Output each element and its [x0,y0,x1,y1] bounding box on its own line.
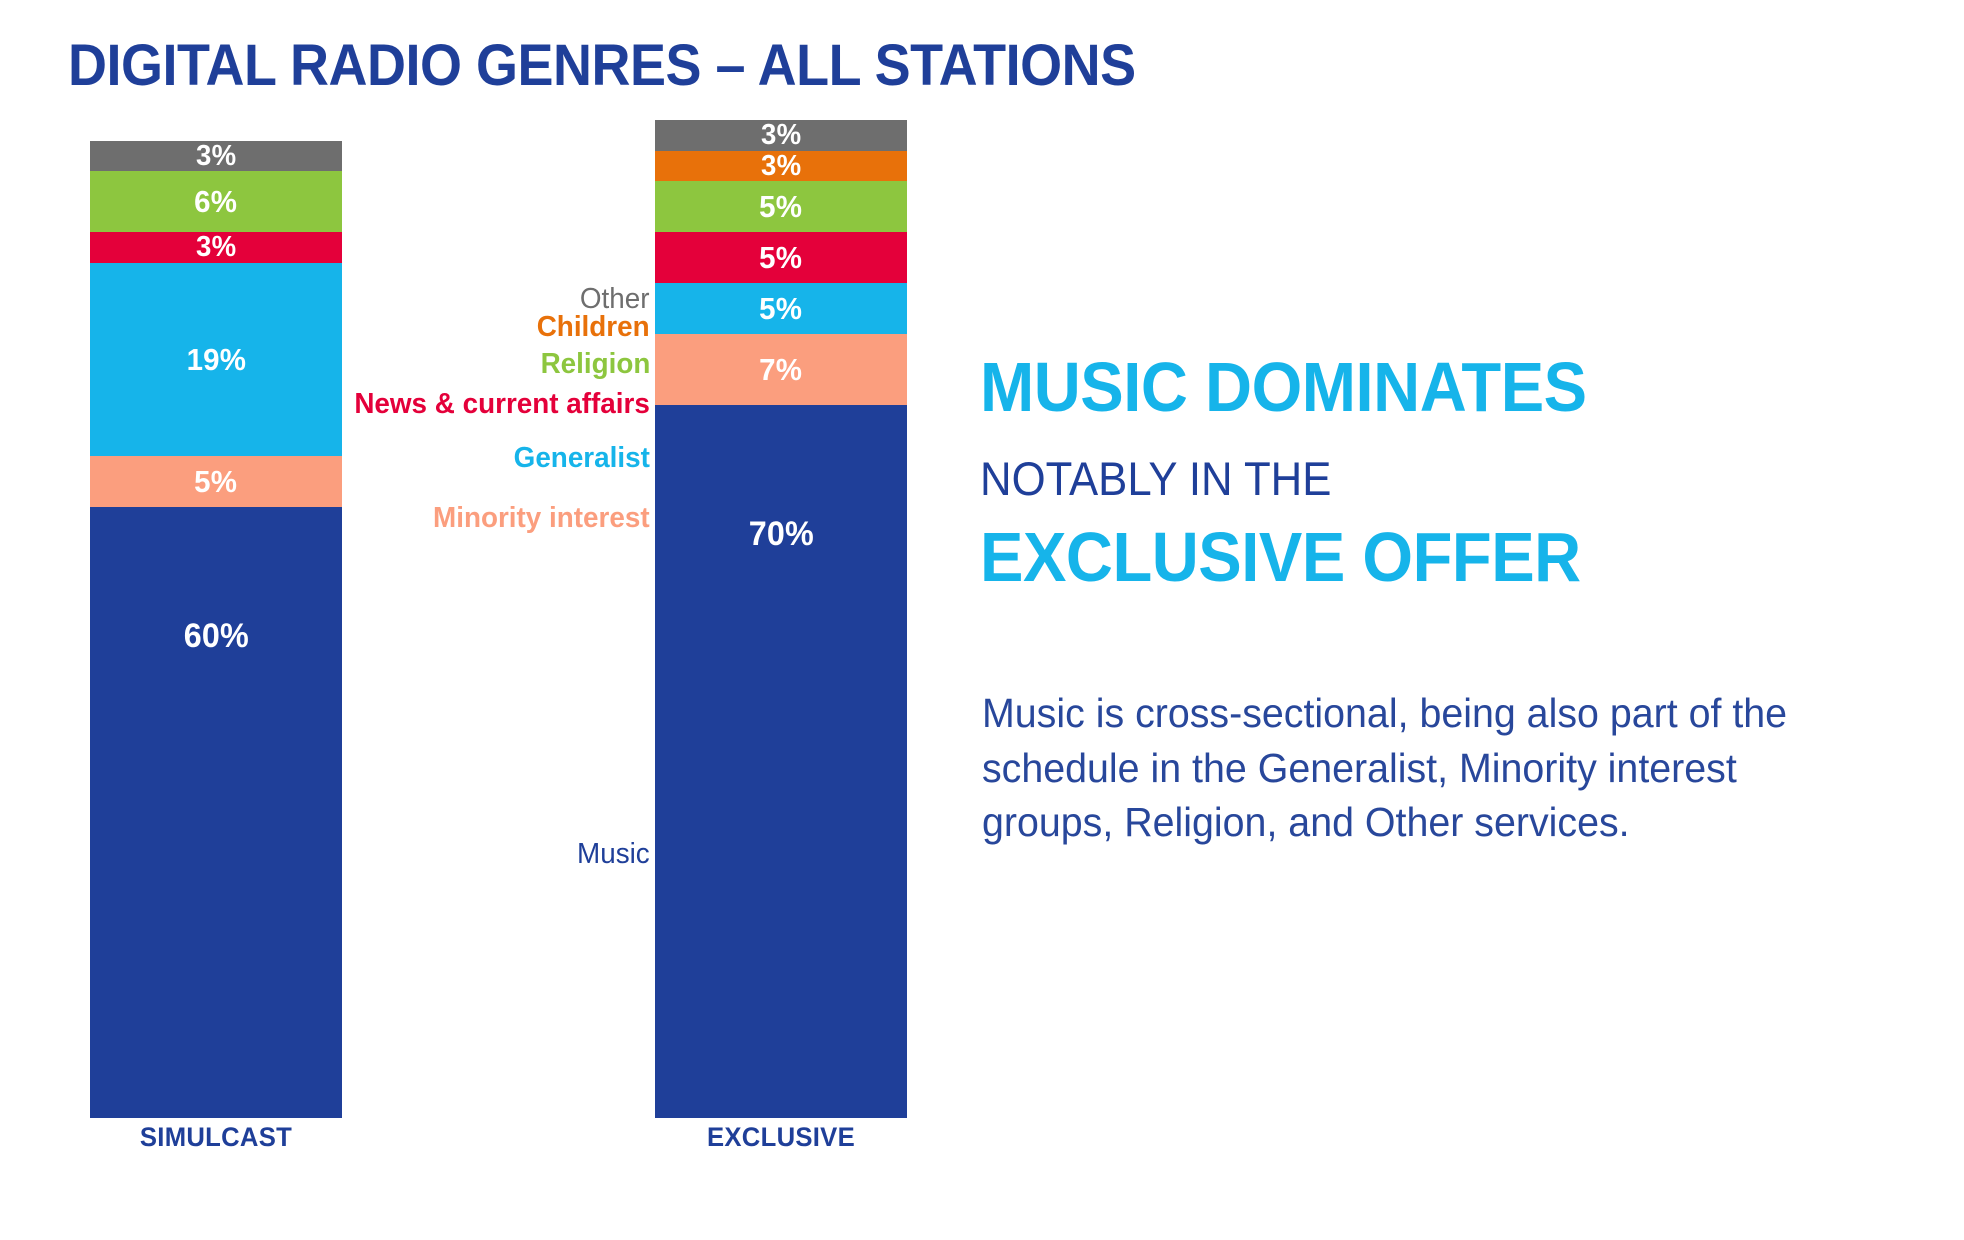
bar-segment-value: 3% [761,121,801,150]
bar-segment-exclusive-minority-interest: 7% [655,334,907,405]
bar-column-exclusive: 3%3%5%5%5%7%70% [655,120,907,1118]
legend-item-news-current-affairs: News & current affairs [354,390,650,419]
legend-item-religion: Religion [540,350,650,379]
legend-item-children: Children [537,313,650,342]
stacked-bar-chart: 3%6%3%19%5%60% 3%3%5%5%5%7%70% SIMULCAST… [0,0,1000,1240]
bar-stack-exclusive: 3%3%5%5%5%7%70% [655,120,907,1118]
axis-label-exclusive: EXCLUSIVE [661,1122,900,1153]
legend-item-music: Music [577,840,650,869]
bar-segment-exclusive-generalist: 5% [655,283,907,334]
bar-segment-value: 5% [760,242,803,273]
headline-music-dominates: MUSIC DOMINATES [980,352,1587,422]
legend-item-minority-interest: Minority interest [433,504,650,533]
bar-segment-exclusive-music: 70% [655,405,907,1118]
legend-item-other: Other [580,285,650,314]
bar-segment-value: 5% [760,191,803,222]
bar-segment-exclusive-children: 3% [655,151,907,182]
body-paragraph: Music is cross-sectional, being also par… [982,686,1836,850]
bar-segment-exclusive-religion: 5% [655,181,907,232]
bar-segment-value: 5% [760,293,803,324]
chart-legend: OtherChildrenReligionNews & current affa… [230,0,650,1240]
bar-segment-exclusive-news-current-affairs: 5% [655,232,907,283]
bar-segment-value: 70% [748,517,813,551]
legend-item-generalist: Generalist [514,444,650,473]
bar-segment-value: 3% [761,152,801,181]
bar-segment-value: 7% [760,354,803,385]
headline-exclusive-offer: EXCLUSIVE OFFER [980,522,1581,592]
bar-segment-exclusive-other: 3% [655,120,907,151]
headline-notably-in-the: NOTABLY IN THE [980,455,1331,502]
